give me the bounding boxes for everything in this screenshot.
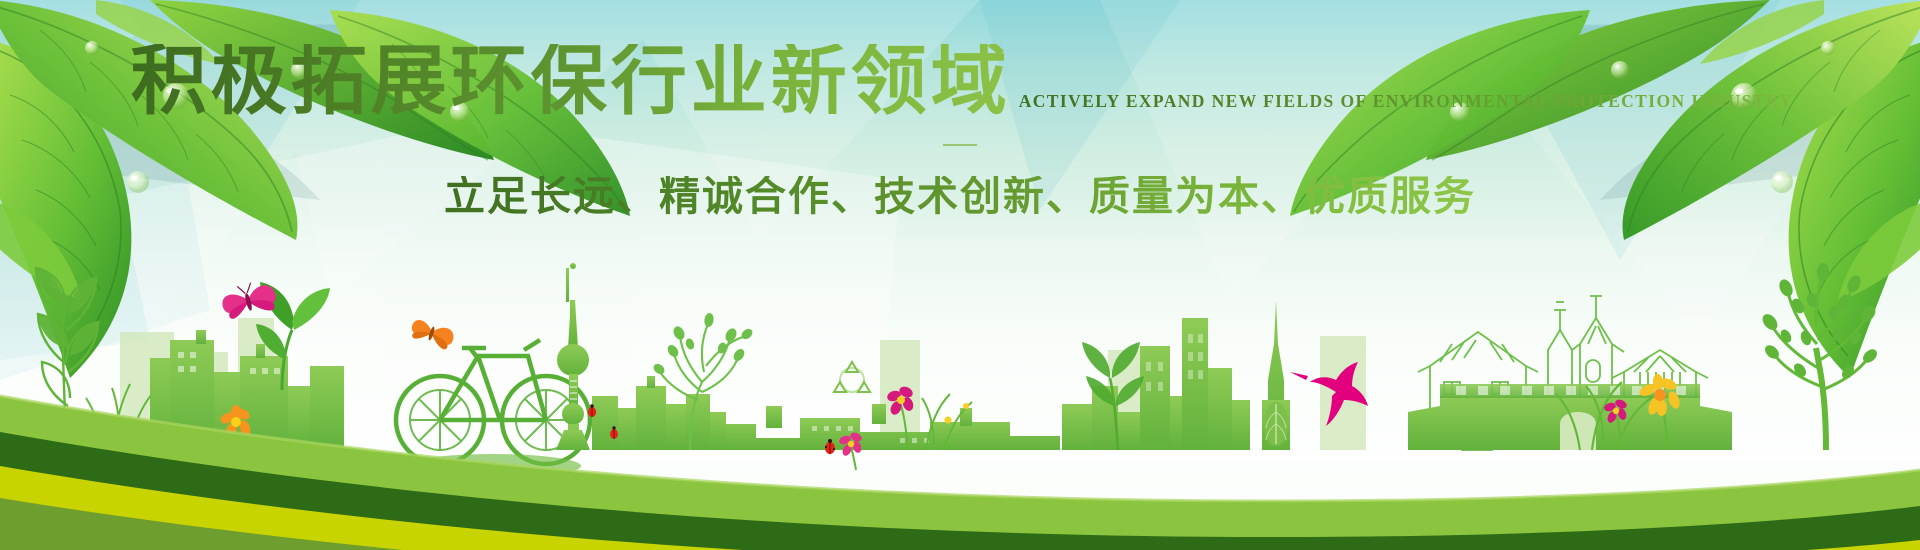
tagline-chinese: 立足长远、精诚合作、技术创新、质量为本、优质服务 <box>444 176 1476 217</box>
page-title: 积极拓展环保行业新领域 <box>127 44 1015 120</box>
banner-text-block: 积极拓展环保行业新领域 ACTIVELY EXPAND NEW FIELDS O… <box>0 44 1920 217</box>
subtitle-english: ACTIVELY EXPAND NEW FIELDS OF ENVIRONMEN… <box>1019 91 1794 112</box>
eco-banner: 积极拓展环保行业新领域 ACTIVELY EXPAND NEW FIELDS O… <box>0 0 1920 550</box>
divider <box>943 144 977 146</box>
